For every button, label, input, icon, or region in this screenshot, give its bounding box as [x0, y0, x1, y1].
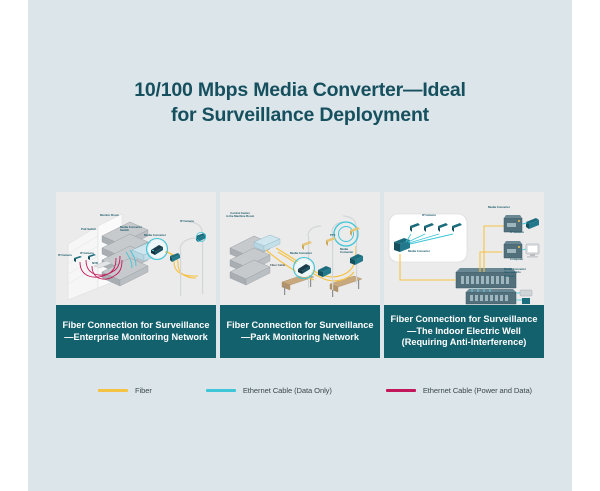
label-ip-camera-mid: IP Camera [80, 252, 94, 255]
panel-row: Monitor Room PoE Switch IP Camera IP Cam… [56, 192, 544, 358]
enterprise-diagram-svg [56, 192, 216, 305]
legend-label-fiber: Fiber [135, 386, 152, 395]
diagram-enterprise: Monitor Room PoE Switch IP Camera IP Cam… [56, 192, 216, 305]
page-title-line-1: 10/100 Mbps Media Converter—Ideal [28, 78, 572, 103]
legend-swatch-ethernet-data-only [206, 389, 236, 391]
legend: Fiber Ethernet Cable (Data Only) Etherne… [56, 386, 544, 395]
label-ip-cameras-right: IP Camera [510, 231, 524, 234]
legend-swatch-fiber [98, 389, 128, 391]
label-ip-camera-left: IP Camera [58, 254, 72, 257]
label-media-converter-box: Media Converter [408, 250, 430, 253]
panel-park[interactable]: Control Center in the Machine Room Media… [220, 192, 380, 358]
label-ip-camera-right: IP Camera [180, 220, 194, 223]
legend-item-fiber: Fiber [98, 386, 152, 395]
panel-caption-electric-well: Fiber Connection for Surveillance—The In… [384, 305, 544, 358]
label-media-converter-switch: Media Converter Switch [120, 226, 142, 233]
label-computer: Computer [510, 258, 523, 261]
label-fiber-cable: Fiber Cable [270, 264, 285, 267]
legend-label-ethernet-power-and-data: Ethernet Cable (Power and Data) [423, 386, 532, 395]
panel-enterprise[interactable]: Monitor Room PoE Switch IP Camera IP Cam… [56, 192, 216, 358]
legend-item-ethernet-data-only: Ethernet Cable (Data Only) [206, 386, 332, 395]
diagram-electric-well: IP Camera Media Converter Media Converte… [384, 192, 544, 305]
label-ip-cameras-box: IP Camera [422, 214, 436, 217]
panel-caption-park: Fiber Connection for Surveillance—Park M… [220, 305, 380, 358]
diagram-park: Control Center in the Machine Room Media… [220, 192, 380, 305]
label-media-converter-chassis: Media Converter Inserted Into Chassis [504, 268, 526, 278]
label-poe-switch: PoE Switch [81, 228, 96, 231]
label-media-converter: Media Converter [144, 234, 166, 237]
label-nvr: NVR [92, 262, 98, 265]
label-media-converter-park-2: Media Converter [340, 248, 353, 255]
label-media-converter-park: Media Converter [290, 252, 312, 255]
legend-item-ethernet-power-and-data: Ethernet Cable (Power and Data) [386, 386, 532, 395]
poster-root: 10/100 Mbps Media Converter—Ideal for Su… [0, 0, 600, 491]
label-ptz: PTZ [330, 234, 335, 237]
panel-electric-well[interactable]: IP Camera Media Converter Media Converte… [384, 192, 544, 358]
panel-caption-enterprise: Fiber Connection for Surveillance—Enterp… [56, 305, 216, 358]
legend-swatch-ethernet-power-and-data [386, 389, 416, 391]
label-control-center: Control Center in the Machine Room [226, 212, 254, 219]
page-title: 10/100 Mbps Media Converter—Ideal for Su… [28, 78, 572, 128]
park-diagram-svg [220, 192, 380, 305]
page-title-line-2: for Surveillance Deployment [28, 103, 572, 128]
label-media-converter-top: Media Converter [488, 206, 510, 209]
legend-label-ethernet-data-only: Ethernet Cable (Data Only) [243, 386, 332, 395]
label-monitor-room: Monitor Room [100, 214, 119, 217]
